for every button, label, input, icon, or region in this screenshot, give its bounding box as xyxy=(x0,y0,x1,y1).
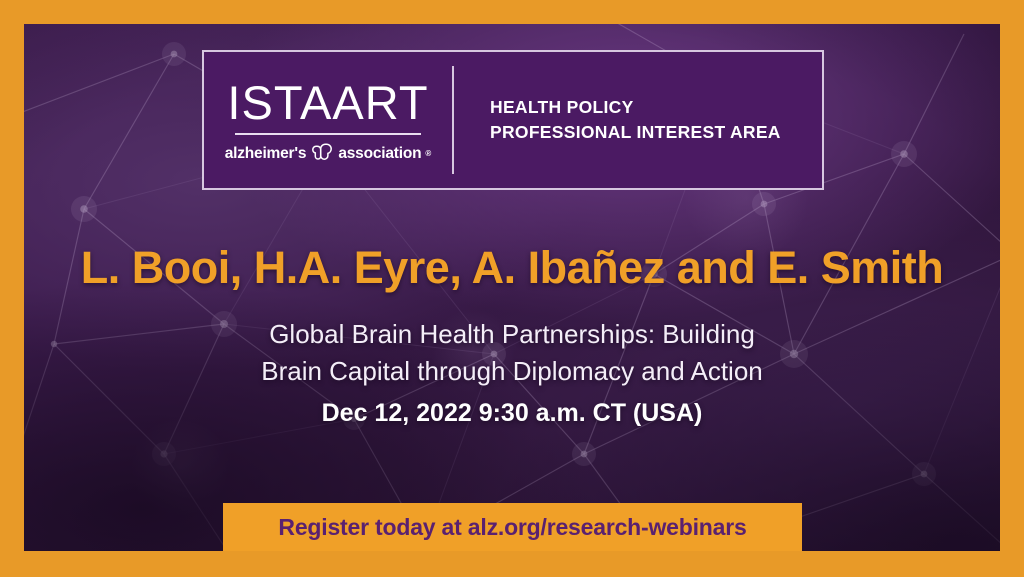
webinar-promo-poster: ISTAART alzheimer's association ® xyxy=(0,0,1024,577)
register-banner[interactable]: Register today at alz.org/research-webin… xyxy=(223,503,802,551)
istaart-wordmark: ISTAART xyxy=(227,79,428,126)
poster-artwork-panel: ISTAART alzheimer's association ® xyxy=(24,24,1000,551)
webinar-datetime: Dec 12, 2022 9:30 a.m. CT (USA) xyxy=(24,399,1000,428)
alzheimers-association-brain-mark-icon xyxy=(310,142,334,166)
association-word-left: alzheimer's xyxy=(225,145,307,163)
talk-title-line-2: Brain Capital through Diplomacy and Acti… xyxy=(24,353,1000,390)
alzheimers-association-lockup: alzheimer's association ® xyxy=(225,142,432,166)
speakers-heading: L. Booi, H.A. Eyre, A. Ibañez and E. Smi… xyxy=(24,242,1000,294)
association-word-right: association xyxy=(338,145,421,163)
pia-line-1: HEALTH POLICY xyxy=(490,95,822,120)
istaart-logo-lockup: ISTAART alzheimer's association ® xyxy=(202,50,824,190)
talk-title-line-1: Global Brain Health Partnerships: Buildi… xyxy=(24,316,1000,353)
register-link-text[interactable]: Register today at alz.org/research-webin… xyxy=(278,514,746,541)
talk-title: Global Brain Health Partnerships: Buildi… xyxy=(24,316,1000,390)
registered-trademark-mark: ® xyxy=(425,149,431,158)
logo-divider-rule xyxy=(235,133,421,135)
istaart-brand-block: ISTAART alzheimer's association ® xyxy=(204,52,452,188)
pia-line-2: PROFESSIONAL INTEREST AREA xyxy=(490,120,822,145)
pia-name-block: HEALTH POLICY PROFESSIONAL INTEREST AREA xyxy=(454,52,822,188)
